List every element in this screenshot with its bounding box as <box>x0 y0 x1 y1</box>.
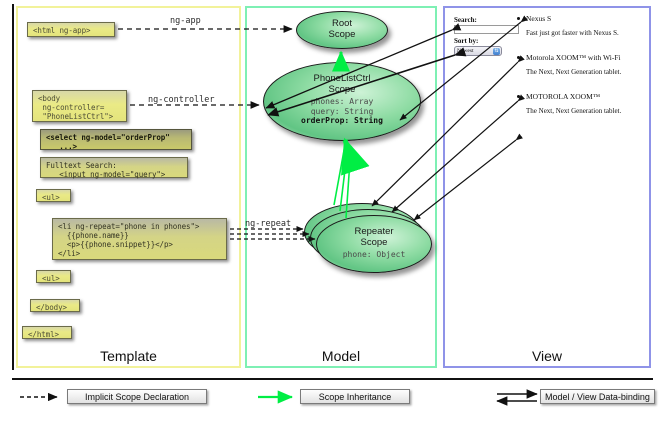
bullet-icon <box>517 17 520 20</box>
label-ng-controller: ng-controller <box>148 95 215 105</box>
view-phone-name-1[interactable]: Motorola XOOM™ with Wi-Fi <box>526 53 621 62</box>
scope-repeater-prop-phone: phone: Object <box>317 250 431 260</box>
scope-ctrl-props: phones: Array query: String orderProp: S… <box>264 97 420 126</box>
scope-root-title-line2: Scope <box>297 29 387 40</box>
scope-repeater: Repeater Scope phone: Object <box>316 215 432 273</box>
code-box-ul-close: <ul> <box>36 270 71 283</box>
scope-repeater-title-line1: Repeater <box>317 226 431 237</box>
code-box-body-ng-controller: <body ng-controller= "PhoneListCtrl"> <box>32 90 127 122</box>
label-ng-app: ng-app <box>170 16 201 26</box>
label-ng-repeat: ng-repeat <box>245 219 291 229</box>
view-sort-label: Sort by: <box>454 37 478 45</box>
view-phone-name-0[interactable]: Nexus S <box>526 14 619 23</box>
scope-ctrl-title-line1: PhoneListCtrl <box>264 73 420 84</box>
scope-ctrl-prop-query: query: String <box>264 107 420 117</box>
view-phone-name-2[interactable]: MOTOROLA XOOM™ <box>526 92 621 101</box>
code-box-html-close: </html> <box>22 326 72 339</box>
scope-repeater-props: phone: Object <box>317 250 431 260</box>
scope-phonelistctrl: PhoneListCtrl Scope phones: Array query:… <box>263 62 421 141</box>
chevron-updown-icon[interactable]: ⇅ <box>493 48 500 55</box>
view-phone-snippet-0: Fast just got faster with Nexus S. <box>526 29 619 37</box>
scope-repeater-title-line2: Scope <box>317 237 431 248</box>
legend-label-databinding: Model / View Data-binding <box>540 389 655 404</box>
code-box-fulltext-search: Fulltext Search: <input ng-model="query"… <box>40 157 188 178</box>
view-phone-snippet-1: The Next, Next Generation tablet. <box>526 68 621 76</box>
code-box-body-close: </body> <box>30 299 80 312</box>
view-phone-item-1: Motorola XOOM™ with Wi-Fi The Next, Next… <box>526 53 621 76</box>
bullet-icon <box>517 95 520 98</box>
legend: Implicit Scope Declaration Scope Inherit… <box>0 386 661 420</box>
view-phone-snippet-2: The Next, Next Generation tablet. <box>526 107 621 115</box>
scope-root: Root Scope <box>296 11 388 49</box>
view-phone-item-0: Nexus S Fast just got faster with Nexus … <box>526 14 619 37</box>
scope-ctrl-title-line2: Scope <box>264 84 420 95</box>
legend-divider-rule <box>12 378 653 380</box>
view-sort-select[interactable]: Newest ⇅ <box>454 46 502 56</box>
view-phone-item-2: MOTOROLA XOOM™ The Next, Next Generation… <box>526 92 621 115</box>
scope-root-title-line1: Root <box>297 18 387 29</box>
view-search-input[interactable] <box>454 25 519 34</box>
panel-view-label: View <box>445 348 649 364</box>
diagram-canvas: Template Model View <html ng-app> <body … <box>0 0 661 425</box>
panel-model: Model <box>245 6 437 368</box>
legend-label-inheritance: Scope Inheritance <box>300 389 410 404</box>
view-search-label: Search: <box>454 16 477 24</box>
panel-template: Template <box>16 6 241 368</box>
code-box-ul-open: <ul> <box>36 189 71 202</box>
legend-label-declaration: Implicit Scope Declaration <box>67 389 207 404</box>
code-box-select-order-prop: <select ng-model="orderProp" ...> <box>40 129 192 150</box>
panel-model-label: Model <box>247 348 435 364</box>
bullet-icon <box>517 56 520 59</box>
code-box-li-ng-repeat: <li ng-repeat="phone in phones"> {{phone… <box>52 218 227 260</box>
view-sort-selected-value: Newest <box>457 48 474 54</box>
scope-ctrl-prop-orderprop: orderProp: String <box>264 116 420 126</box>
panel-template-label: Template <box>18 348 239 364</box>
scope-ctrl-prop-phones: phones: Array <box>264 97 420 107</box>
code-box-html-ng-app: <html ng-app> <box>27 22 115 37</box>
